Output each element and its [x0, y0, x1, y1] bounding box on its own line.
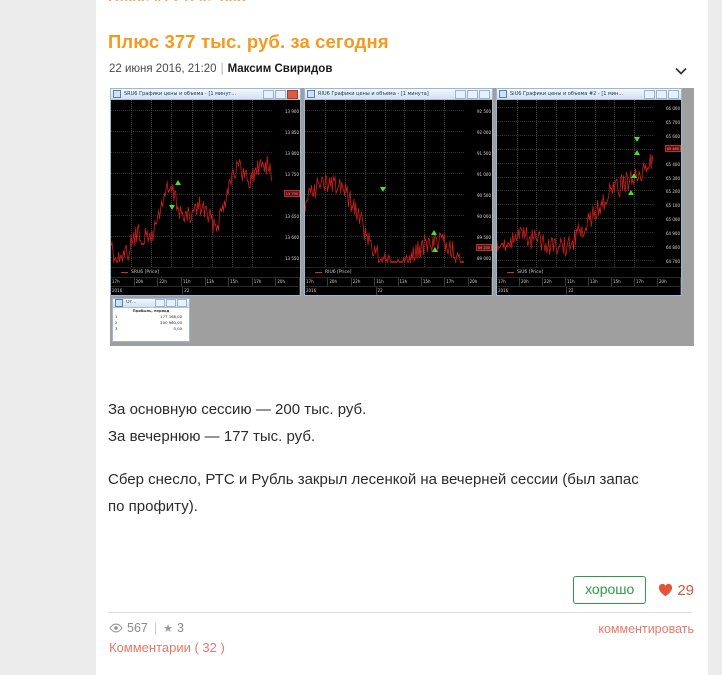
- last-price-label: 89 230: [476, 244, 492, 251]
- byline: 22 июня 2016, 21:20|Максим Свиридов: [109, 63, 332, 75]
- chart-window-siu6[interactable]: SiU6 Графики цены и объема #2 - [1 мин..…: [496, 88, 682, 296]
- heart-reaction[interactable]: 29: [658, 582, 694, 599]
- paragraph-1-line-2: За вечернюю — 177 тыс. руб.: [108, 423, 678, 450]
- price-tick: 90 500: [477, 194, 491, 198]
- time-axis: 17h20h22h11h13h15h17h20h: [111, 277, 300, 286]
- trade-marker-up: [175, 180, 181, 185]
- row-value: 0,00: [124, 326, 187, 332]
- reactions-bar: хорошо 29: [573, 576, 694, 604]
- maximize-icon[interactable]: [275, 90, 286, 99]
- window-controls: [644, 90, 679, 99]
- window-titlebar: RIU6 Графики цены и объема - [1 минута]: [305, 89, 492, 100]
- close-icon[interactable]: [668, 90, 679, 99]
- price-series: [305, 100, 464, 267]
- time-tick: 22h: [158, 278, 182, 286]
- time-tick: 17h: [305, 278, 328, 286]
- time-axis: 17h20h22h11h13h15h17h20h: [497, 277, 681, 286]
- time-tick: 17h: [253, 278, 277, 286]
- window-titlebar: SRU6 Графики цены и объема - [1 минут...: [111, 89, 300, 100]
- window-system-icon: [115, 299, 123, 307]
- maximize-icon[interactable]: [166, 299, 176, 307]
- post-paragraph-2: Сбер снесло, РТС и Рубль закрыл лесенкой…: [108, 466, 648, 520]
- time-tick: 22h: [543, 278, 566, 286]
- table-row: 30,00: [115, 326, 187, 332]
- time-tick: 20h: [135, 278, 159, 286]
- date-tick: 2016: [305, 287, 377, 295]
- price-tick: 65 700: [666, 121, 680, 125]
- time-tick: 13h: [589, 278, 612, 286]
- close-icon[interactable]: [479, 90, 490, 99]
- price-tick: 66 000: [666, 107, 680, 111]
- price-chart-canvas: [111, 100, 272, 267]
- time-tick: 17h: [111, 278, 135, 286]
- chart-plot-area: 66 00065 70065 60065 50065 40065 30065 2…: [497, 100, 681, 267]
- paragraph-1-line-1: За основную сессию — 200 тыс. руб.: [108, 396, 678, 423]
- post-container: Плюс 412 тыс. руб. Плюс 377 тыс. руб. за…: [96, 0, 708, 675]
- time-tick: 15h: [612, 278, 635, 286]
- maximize-icon[interactable]: [467, 90, 478, 99]
- legend-line-swatch: [121, 272, 128, 273]
- window-title: От...: [126, 300, 155, 306]
- price-tick: 65 000: [666, 218, 680, 222]
- chart-window-riu6[interactable]: RIU6 Графики цены и объема - [1 минута] …: [304, 88, 493, 296]
- time-tick: 13h: [206, 278, 230, 286]
- row-index: 3: [115, 326, 124, 332]
- time-tick: 20h: [328, 278, 351, 286]
- stats-divider: |: [154, 621, 157, 635]
- time-tick: 11h: [182, 278, 206, 286]
- trade-marker-up: [432, 247, 438, 252]
- post-paragraph-1: За основную сессию — 200 тыс. руб. За ве…: [108, 396, 678, 450]
- last-price-label: 13 790: [284, 190, 300, 197]
- last-price-label: 65 480: [665, 145, 681, 152]
- time-tick: 13h: [399, 278, 422, 286]
- legend-label: RIU6 [Price]: [325, 270, 352, 275]
- time-tick: 11h: [375, 278, 398, 286]
- time-tick: 20h: [658, 278, 681, 286]
- price-tick: 65 600: [666, 135, 680, 139]
- minimize-icon[interactable]: [644, 90, 655, 99]
- date-axis: 201622: [497, 286, 681, 295]
- page-title: Плюс 377 тыс. руб. за сегодня: [108, 31, 389, 53]
- chart-window-sru6[interactable]: SRU6 Графики цены и объема - [1 минут...…: [110, 88, 301, 296]
- price-tick: 13 600: [285, 236, 299, 240]
- price-tick: 64 900: [666, 232, 680, 236]
- post-author[interactable]: Максим Свиридов: [228, 63, 333, 75]
- legend-label: SRU6 [Price]: [131, 270, 159, 275]
- window-title: SiU6 Графики цены и объема #2 - [1 мин..…: [510, 91, 644, 97]
- price-tick: 13 750: [285, 173, 299, 177]
- price-series: [111, 100, 272, 267]
- legend-line-swatch: [507, 272, 514, 273]
- time-tick: 11h: [566, 278, 589, 286]
- chart-legend: SRU6 [Price]: [111, 267, 300, 277]
- page-gutter-right: [708, 0, 722, 675]
- chart-legend: SiU6 [Price]: [497, 267, 681, 277]
- window-title: SRU6 Графики цены и объема - [1 минут...: [124, 91, 263, 97]
- trade-marker-up: [628, 190, 634, 195]
- price-tick: 65 100: [666, 204, 680, 208]
- good-button[interactable]: хорошо: [573, 576, 646, 604]
- post-stats: 567 | ★ 3: [109, 621, 184, 635]
- price-tick: 65 400: [666, 163, 680, 167]
- date-tick: 22: [377, 287, 492, 295]
- trade-marker-up: [631, 173, 637, 178]
- price-tick: 13 550: [285, 257, 299, 261]
- time-tick: 17h: [497, 278, 520, 286]
- footer-divider: [108, 612, 692, 613]
- window-titlebar: SiU6 Графики цены и объема #2 - [1 мин..…: [497, 89, 681, 100]
- price-chart-canvas: [497, 100, 653, 267]
- price-tick: 13 850: [285, 131, 299, 135]
- page-root: Плюс 412 тыс. руб. Плюс 377 тыс. руб. за…: [0, 0, 722, 675]
- maximize-icon[interactable]: [656, 90, 667, 99]
- window-controls: [263, 90, 298, 99]
- previous-post-title-cutoff[interactable]: Плюс 412 тыс. руб.: [108, 0, 250, 1]
- minimize-icon[interactable]: [263, 90, 274, 99]
- close-icon[interactable]: [177, 299, 187, 307]
- trade-marker-up: [634, 150, 640, 155]
- price-series: [497, 100, 653, 267]
- date-tick: 2016: [497, 287, 567, 295]
- window-titlebar: От...: [113, 299, 189, 308]
- price-tick: 92 500: [477, 110, 491, 114]
- legend-line-swatch: [315, 272, 322, 273]
- page-gutter-left: [0, 0, 96, 675]
- price-tick: 13 900: [285, 110, 299, 114]
- trade-marker-down: [169, 205, 175, 210]
- eye-icon: [109, 623, 123, 633]
- price-tick: 64 700: [666, 260, 680, 264]
- chart-plot-area: 92 50092 00091 50091 00090 50090 00089 5…: [305, 100, 492, 267]
- window-system-icon: [307, 90, 315, 98]
- window-system-icon: [499, 90, 507, 98]
- price-tick: 89 000: [477, 257, 491, 261]
- date-tick: 2016: [111, 287, 183, 295]
- minimize-icon[interactable]: [455, 90, 466, 99]
- trade-marker-up: [431, 230, 437, 235]
- price-chart-canvas: [305, 100, 464, 267]
- time-axis: 17h20h22h11h13h15h17h20h: [305, 277, 492, 286]
- price-tick: 91 500: [477, 152, 491, 156]
- price-tick: 90 000: [477, 215, 491, 219]
- chart-plot-area: 13 90013 85013 80013 75013 70013 65013 6…: [111, 100, 300, 267]
- star-icon: ★: [163, 622, 173, 635]
- price-tick: 91 000: [477, 173, 491, 177]
- legend-label: SiU6 [Price]: [517, 270, 543, 275]
- time-tick: 15h: [422, 278, 445, 286]
- time-tick: 15h: [229, 278, 253, 286]
- trade-marker-down: [380, 187, 386, 192]
- time-tick: 20h: [520, 278, 543, 286]
- window-controls: [155, 299, 187, 307]
- stars-count: 3: [177, 621, 184, 635]
- price-tick: 65 300: [666, 177, 680, 181]
- views-count: 567: [127, 621, 148, 635]
- profit-table-body: 1177 168,002200 960,0030,00: [115, 314, 187, 332]
- time-tick: 20h: [469, 278, 492, 286]
- comments-link[interactable]: Комментарии ( 32 ): [109, 640, 225, 655]
- window-controls: [455, 90, 490, 99]
- price-axis: 13 90013 85013 80013 75013 70013 65013 6…: [272, 100, 300, 267]
- comment-action-link[interactable]: комментировать: [598, 622, 694, 636]
- minimize-icon[interactable]: [155, 299, 165, 307]
- time-tick: 20h: [276, 278, 300, 286]
- heart-count: 29: [677, 582, 694, 599]
- close-icon[interactable]: [287, 90, 298, 99]
- price-tick: 89 500: [477, 236, 491, 240]
- byline-separator: |: [221, 63, 224, 75]
- price-axis: 92 50092 00091 50091 00090 50090 00089 5…: [464, 100, 492, 267]
- window-system-icon: [113, 90, 121, 98]
- trade-marker-down: [634, 137, 640, 142]
- chevron-down-icon[interactable]: [672, 62, 690, 80]
- chart-legend: RIU6 [Price]: [305, 267, 492, 277]
- price-tick: 92 000: [477, 131, 491, 135]
- date-tick: 22: [183, 287, 300, 295]
- heart-icon[interactable]: [658, 583, 673, 597]
- chart-windows-row: SRU6 Графики цены и объема - [1 минут...…: [110, 88, 694, 296]
- profit-table: Прибыль, период 1177 168,002200 960,0030…: [113, 308, 189, 341]
- time-tick: 17h: [445, 278, 468, 286]
- post-date: 22 июня 2016, 21:20: [109, 63, 217, 75]
- price-tick: 64 800: [666, 246, 680, 250]
- price-tick: 13 650: [285, 215, 299, 219]
- price-axis: 66 00065 70065 60065 50065 40065 30065 2…: [653, 100, 681, 267]
- date-axis: 201622: [111, 286, 300, 295]
- profit-table-window[interactable]: От... Прибыль, период 1177 168,002200 96…: [112, 298, 190, 342]
- time-tick: 22h: [352, 278, 375, 286]
- price-tick: 65 200: [666, 190, 680, 194]
- date-axis: 201622: [305, 286, 492, 295]
- date-tick: 22: [567, 287, 681, 295]
- window-title: RIU6 Графики цены и объема - [1 минута]: [318, 91, 455, 97]
- time-tick: 17h: [635, 278, 658, 286]
- price-tick: 13 800: [285, 152, 299, 156]
- post-screenshot: SRU6 Графики цены и объема - [1 минут...…: [110, 88, 694, 346]
